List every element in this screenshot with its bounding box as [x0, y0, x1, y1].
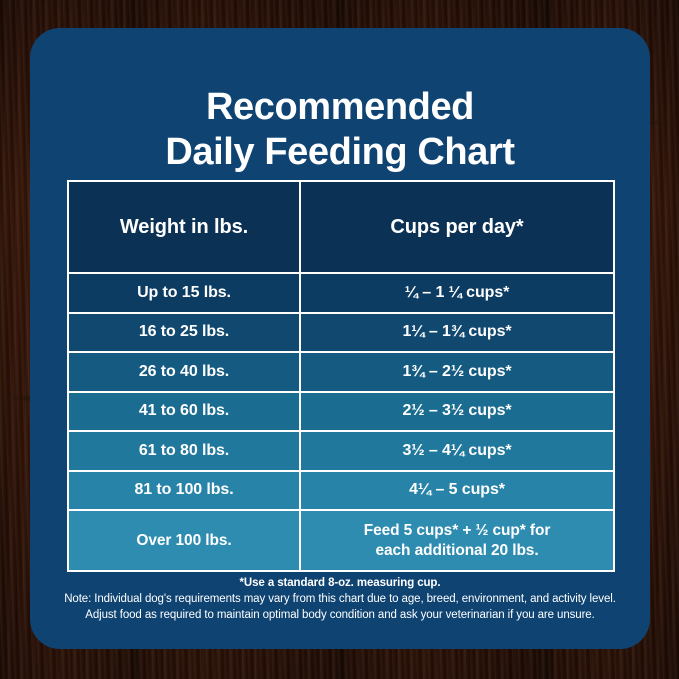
cell-cups: ¼ – 1 ¼ cups* [300, 273, 614, 313]
table-row: 26 to 40 lbs. 1¾ – 2½ cups* [68, 352, 614, 392]
footnote-note: Note: Individual dog's requirements may … [30, 591, 650, 607]
cell-weight: 26 to 40 lbs. [68, 352, 300, 392]
table-row: 16 to 25 lbs. 1¼ – 1¾ cups* [68, 313, 614, 353]
cell-cups: 1¾ – 2½ cups* [300, 352, 614, 392]
cell-cups-line-2: each additional 20 lbs. [301, 541, 613, 560]
page-title-line-2: Daily Feeding Chart [60, 130, 620, 175]
page-title-line-1: Recommended [60, 85, 620, 130]
footnote-measuring-cup: *Use a standard 8-oz. measuring cup. [30, 577, 650, 589]
cell-cups: 4¼ – 5 cups* [300, 471, 614, 511]
table-body: Up to 15 lbs. ¼ – 1 ¼ cups* 16 to 25 lbs… [68, 273, 614, 571]
table-row: Over 100 lbs. Feed 5 cups* + ½ cup* for … [68, 510, 614, 571]
table-head: Weight in lbs. Cups per day* [68, 181, 614, 273]
cell-weight: 16 to 25 lbs. [68, 313, 300, 353]
table-row: 61 to 80 lbs. 3½ – 4¼ cups* [68, 431, 614, 471]
cell-weight: 61 to 80 lbs. [68, 431, 300, 471]
column-header-weight: Weight in lbs. [68, 181, 300, 273]
feeding-chart-card: Recommended Daily Feeding Chart Weight i… [30, 28, 650, 649]
cell-weight: 81 to 100 lbs. [68, 471, 300, 511]
table-header-row: Weight in lbs. Cups per day* [68, 181, 614, 273]
cell-cups: Feed 5 cups* + ½ cup* for each additiona… [300, 510, 614, 571]
page-title: Recommended Daily Feeding Chart [30, 28, 650, 175]
footnotes: *Use a standard 8-oz. measuring cup. Not… [30, 577, 650, 624]
cell-weight: 41 to 60 lbs. [68, 392, 300, 432]
cell-cups-line-1: Feed 5 cups* + ½ cup* for [301, 521, 613, 540]
footnote-adjust: Adjust food as required to maintain opti… [30, 607, 650, 623]
cell-cups: 2½ – 3½ cups* [300, 392, 614, 432]
table-row: 81 to 100 lbs. 4¼ – 5 cups* [68, 471, 614, 511]
table-row: 41 to 60 lbs. 2½ – 3½ cups* [68, 392, 614, 432]
cell-cups: 3½ – 4¼ cups* [300, 431, 614, 471]
column-header-cups: Cups per day* [300, 181, 614, 273]
feeding-table: Weight in lbs. Cups per day* Up to 15 lb… [67, 180, 615, 572]
cell-cups: 1¼ – 1¾ cups* [300, 313, 614, 353]
cell-weight: Up to 15 lbs. [68, 273, 300, 313]
cell-weight: Over 100 lbs. [68, 510, 300, 571]
table-row: Up to 15 lbs. ¼ – 1 ¼ cups* [68, 273, 614, 313]
